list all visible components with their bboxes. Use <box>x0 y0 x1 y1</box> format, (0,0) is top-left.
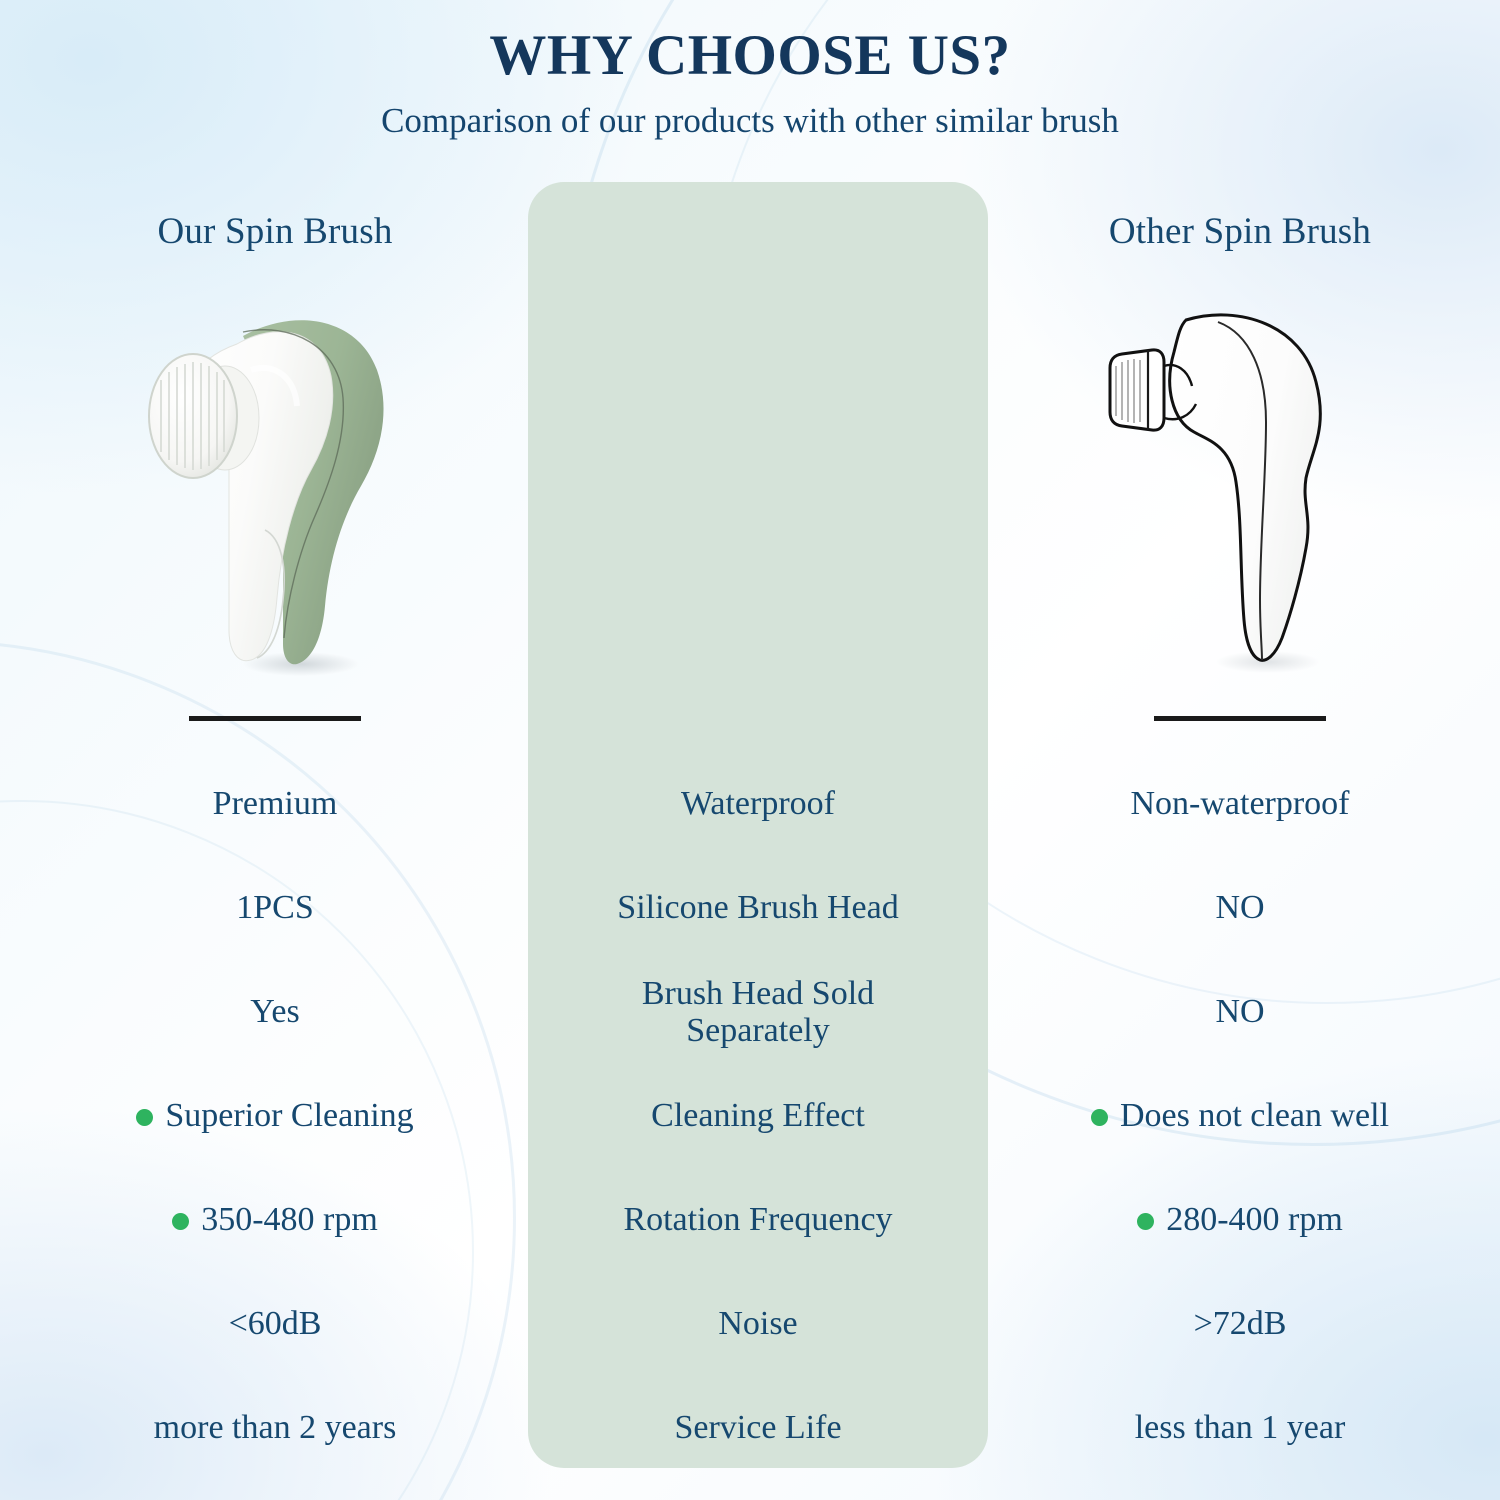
cell-value: Yes <box>250 992 299 1031</box>
feature-label: Waterproof <box>681 784 835 823</box>
cell-value: Non-waterproof <box>1130 784 1349 823</box>
table-row: Yes <box>30 960 520 1064</box>
table-row: Noise <box>528 1272 988 1376</box>
column-other-product: Other Spin Brush <box>1000 0 1480 1500</box>
spin-brush-outline-icon <box>1090 300 1390 680</box>
table-row: 1PCS <box>30 856 520 960</box>
table-row: Service Life <box>528 1376 988 1480</box>
table-row: more than 2 years <box>30 1376 520 1480</box>
column-features: Waterproof Silicone Brush Head Brush Hea… <box>528 0 988 1500</box>
feature-label: Cleaning Effect <box>651 1096 865 1135</box>
bullet-icon <box>172 1213 189 1230</box>
table-row: Superior Cleaning <box>30 1064 520 1168</box>
cell-value: Does not clean well <box>1120 1096 1389 1135</box>
column-heading-ours: Our Spin Brush <box>30 210 520 253</box>
cell-value: <60dB <box>229 1304 322 1343</box>
table-row: Non-waterproof <box>1000 752 1480 856</box>
rows-other: Non-waterproof NO NO Does not clean well… <box>1000 752 1480 1480</box>
cell-value: more than 2 years <box>154 1408 397 1447</box>
table-row: Brush Head Sold Separately <box>528 960 988 1064</box>
cell-value: 1PCS <box>236 888 314 927</box>
feature-label: Silicone Brush Head <box>617 888 898 927</box>
cell-value: less than 1 year <box>1135 1408 1346 1447</box>
cell-value: Superior Cleaning <box>165 1096 413 1135</box>
rows-features: Waterproof Silicone Brush Head Brush Hea… <box>528 752 988 1480</box>
table-row: 350-480 rpm <box>30 1168 520 1272</box>
table-row: NO <box>1000 856 1480 960</box>
table-row: Does not clean well <box>1000 1064 1480 1168</box>
table-row: NO <box>1000 960 1480 1064</box>
cell-value: Premium <box>213 784 338 823</box>
bullet-icon <box>1091 1109 1108 1126</box>
rows-ours: Premium 1PCS Yes Superior Cleaning 350-4… <box>30 752 520 1480</box>
table-row: >72dB <box>1000 1272 1480 1376</box>
table-row: Rotation Frequency <box>528 1168 988 1272</box>
column-our-product: Our Spin Brush <box>30 0 520 1500</box>
cell-value: NO <box>1215 992 1264 1031</box>
feature-label: Rotation Frequency <box>623 1200 892 1239</box>
bullet-icon <box>136 1109 153 1126</box>
product-image-ours <box>30 300 520 690</box>
cell-value: >72dB <box>1194 1304 1287 1343</box>
table-row: less than 1 year <box>1000 1376 1480 1480</box>
column-divider-ours <box>189 716 361 721</box>
spin-brush-green-icon <box>125 300 425 680</box>
column-divider-other <box>1154 716 1326 721</box>
table-row: Waterproof <box>528 752 988 856</box>
cell-value: NO <box>1215 888 1264 927</box>
table-row: Premium <box>30 752 520 856</box>
product-image-other <box>1000 300 1480 690</box>
feature-label: Noise <box>718 1304 797 1343</box>
column-heading-other: Other Spin Brush <box>1000 210 1480 253</box>
table-row: <60dB <box>30 1272 520 1376</box>
feature-label: Brush Head Sold Separately <box>593 975 923 1050</box>
cell-value: 280-400 rpm <box>1166 1200 1343 1239</box>
cell-value: 350-480 rpm <box>201 1200 378 1239</box>
table-row: Cleaning Effect <box>528 1064 988 1168</box>
feature-label: Service Life <box>674 1408 841 1447</box>
table-row: 280-400 rpm <box>1000 1168 1480 1272</box>
table-row: Silicone Brush Head <box>528 856 988 960</box>
bullet-icon <box>1137 1213 1154 1230</box>
comparison-infographic: WHY CHOOSE US? Comparison of our product… <box>0 0 1500 1500</box>
